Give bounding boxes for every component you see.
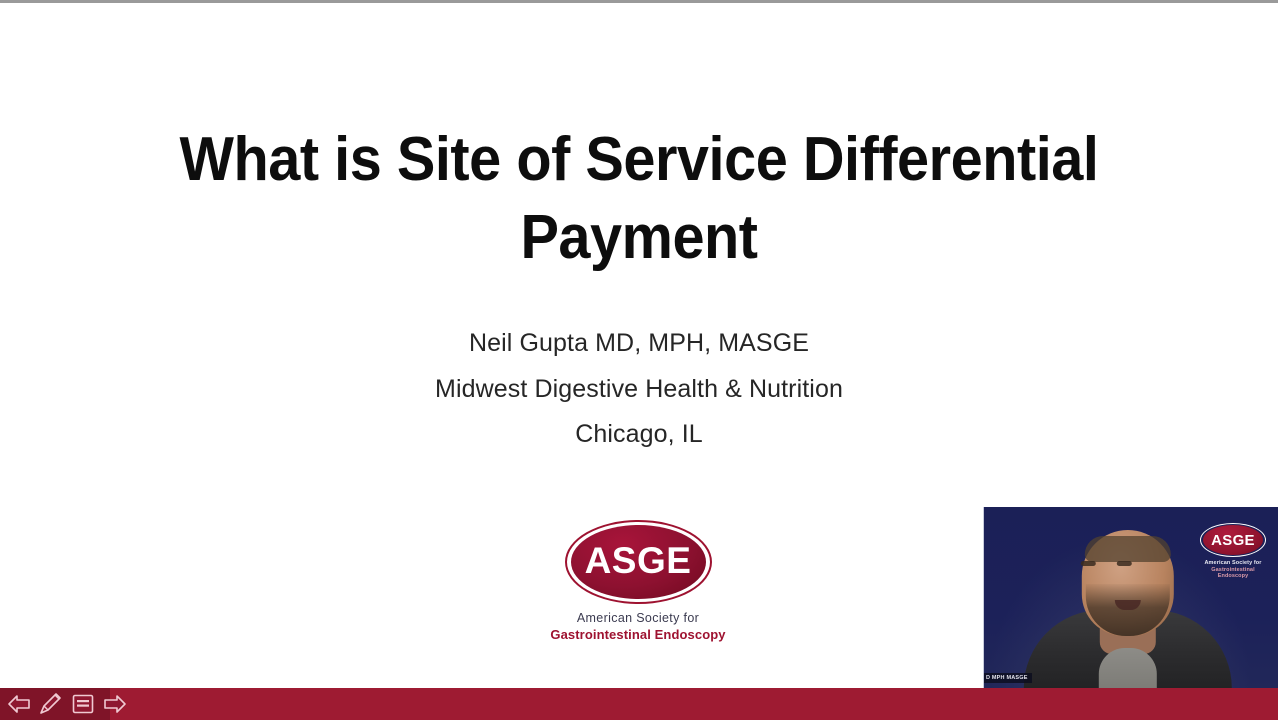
presenter-eye-right xyxy=(1116,561,1131,566)
video-asge-oval: ASGE xyxy=(1200,523,1266,557)
presenter-eye-left xyxy=(1080,561,1095,566)
presenter-location: Chicago, IL xyxy=(139,412,1139,458)
presenter-name: Neil Gupta MD, MPH, MASGE xyxy=(139,321,1139,367)
video-asge-acronym: ASGE xyxy=(1200,523,1266,557)
asge-logo-line2: Gastrointestinal Endoscopy xyxy=(548,627,728,642)
video-asge-line2: Gastrointestinal Endoscopy xyxy=(1197,567,1269,579)
toolbar-icon-group xyxy=(4,688,130,720)
menu-icon[interactable] xyxy=(68,690,98,718)
pen-annotate-icon[interactable] xyxy=(36,690,66,718)
asge-logo-oval: ASGE xyxy=(565,520,712,604)
presenter-video-panel[interactable]: ASGE American Society for Gastrointestin… xyxy=(983,507,1278,688)
slide-subtitle-block: Neil Gupta MD, MPH, MASGE Midwest Digest… xyxy=(139,321,1139,458)
asge-logo-line1: American Society for xyxy=(548,611,728,625)
asge-logo: ASGE American Society for Gastrointestin… xyxy=(548,520,728,642)
presenter-name-card: D MPH MASGE xyxy=(984,673,1032,683)
presenter-hair xyxy=(1084,536,1170,562)
video-asge-line1: American Society for xyxy=(1197,560,1269,566)
presenter-affiliation: Midwest Digestive Health & Nutrition xyxy=(139,367,1139,413)
presenter-collar xyxy=(1098,648,1156,688)
asge-logo-acronym: ASGE xyxy=(565,520,712,604)
next-slide-icon[interactable] xyxy=(100,690,130,718)
presentation-toolbar xyxy=(0,688,1278,720)
video-asge-logo: ASGE American Society for Gastrointestin… xyxy=(1197,523,1269,579)
slide-title: What is Site of Service Differential Pay… xyxy=(128,121,1149,277)
previous-slide-icon[interactable] xyxy=(4,690,34,718)
